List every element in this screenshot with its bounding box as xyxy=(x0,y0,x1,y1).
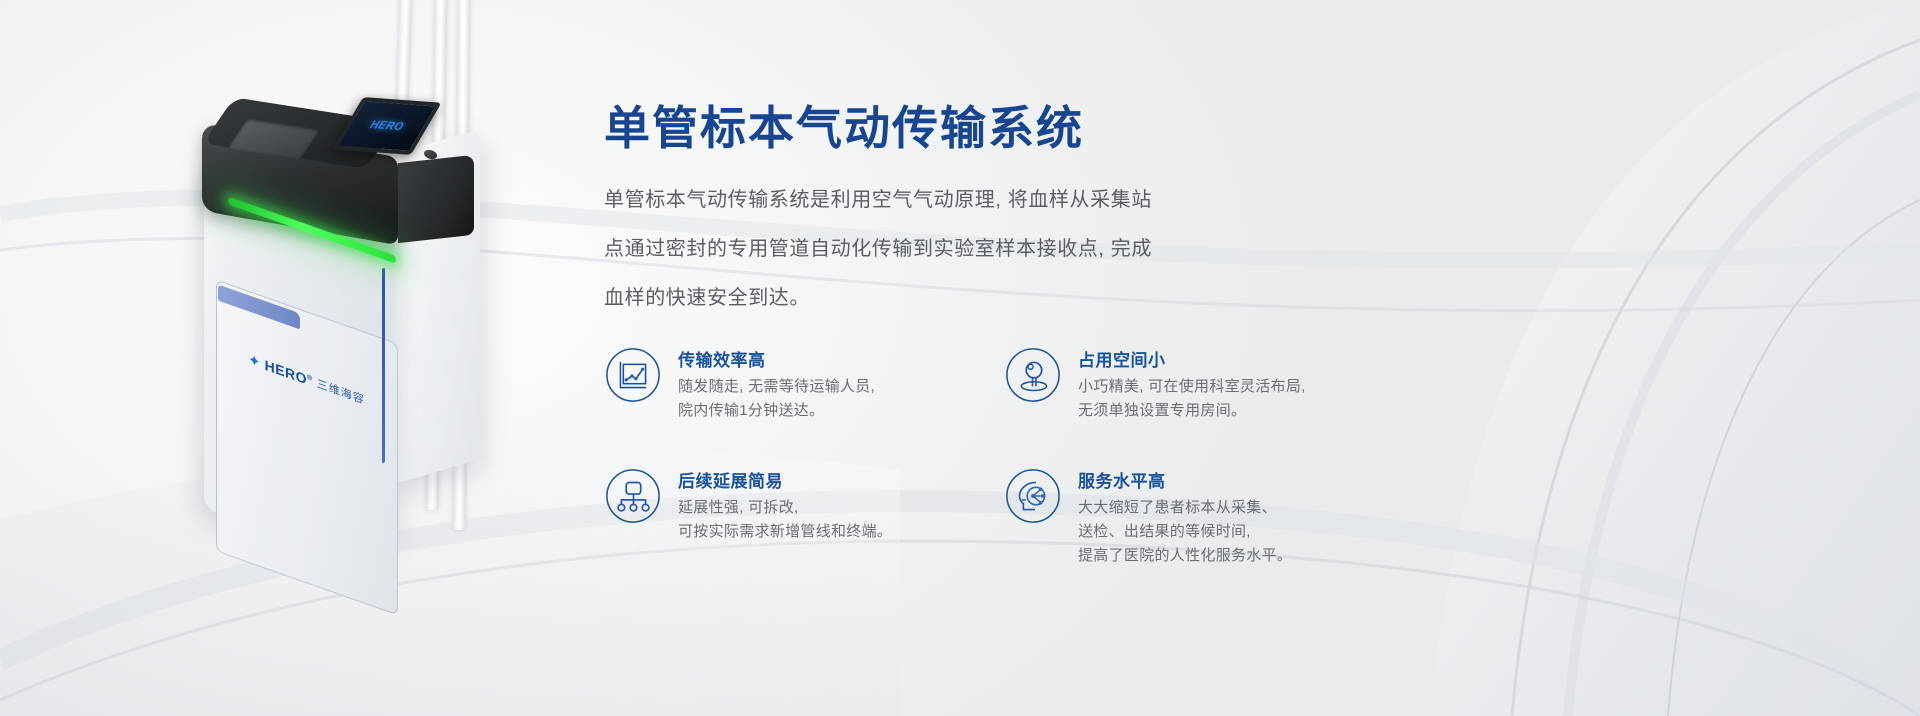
feature-desc-line: 院内传输1分钟送达。 xyxy=(678,399,875,423)
brain-network-icon xyxy=(1004,467,1062,525)
feature-title: 后续延展简易 xyxy=(678,467,892,492)
feature-text: 占用空间小 小巧精美, 可在使用科室灵活布局, 无须单独设置专用房间。 xyxy=(1078,344,1306,423)
space-marker-icon xyxy=(1004,346,1062,404)
feature-desc-line: 大大缩短了患者标本从采集、 xyxy=(1078,496,1292,520)
feature-title: 传输效率高 xyxy=(678,346,875,371)
feature-description: 随发随走, 无需等待运输人员, 院内传输1分钟送达。 xyxy=(678,375,875,423)
product-banner: ✦ HERO® 三维海容 HERO 单管标本气动传输系统 单管标本气动传输系统是… xyxy=(0,0,1920,716)
feature-item-transmission-efficiency: 传输效率高 随发随走, 无需等待运输人员, 院内传输1分钟送达。 xyxy=(604,344,1004,423)
feature-desc-line: 可按实际需求新增管线和终端。 xyxy=(678,520,892,544)
feature-list: 传输效率高 随发随走, 无需等待运输人员, 院内传输1分钟送达。 xyxy=(604,344,1284,568)
feature-text: 传输效率高 随发随走, 无需等待运输人员, 院内传输1分钟送达。 xyxy=(678,344,875,423)
feature-desc-line: 无须单独设置专用房间。 xyxy=(1078,399,1306,423)
feature-title: 服务水平高 xyxy=(1078,467,1292,492)
device-unit: ✦ HERO® 三维海容 HERO xyxy=(196,118,496,538)
intro-line: 血样的快速安全到达。 xyxy=(604,274,1264,323)
feature-description: 大大缩短了患者标本从采集、 送检、出结果的等候时间, 提高了医院的人性化服务水平… xyxy=(1078,496,1292,568)
device-top-side xyxy=(398,155,474,243)
feature-item-easy-extension: 后续延展简易 延展性强, 可拆改, 可按实际需求新增管线和终端。 xyxy=(604,465,1004,568)
network-tree-icon xyxy=(604,467,662,525)
feature-desc-line: 延展性强, 可拆改, xyxy=(678,496,892,520)
feature-text: 后续延展简易 延展性强, 可拆改, 可按实际需求新增管线和终端。 xyxy=(678,465,892,544)
feature-description: 延展性强, 可拆改, 可按实际需求新增管线和终端。 xyxy=(678,496,892,544)
feature-desc-line: 随发随走, 无需等待运输人员, xyxy=(678,375,875,399)
chart-trend-icon xyxy=(604,346,662,404)
feature-title: 占用空间小 xyxy=(1078,346,1306,371)
feature-item-small-footprint: 占用空间小 小巧精美, 可在使用科室灵活布局, 无须单独设置专用房间。 xyxy=(1004,344,1404,423)
feature-desc-line: 送检、出结果的等候时间, xyxy=(1078,520,1292,544)
screen-logo: HERO xyxy=(367,119,406,133)
feature-description: 小巧精美, 可在使用科室灵活布局, 无须单独设置专用房间。 xyxy=(1078,375,1306,423)
intro-line: 点通过密封的专用管道自动化传输到实验室样本接收点, 完成 xyxy=(604,225,1264,274)
feature-desc-line: 小巧精美, 可在使用科室灵活布局, xyxy=(1078,375,1306,399)
intro-line: 单管标本气动传输系统是利用空气气动原理, 将血样从采集站 xyxy=(604,176,1264,225)
feature-text: 服务水平高 大大缩短了患者标本从采集、 送检、出结果的等候时间, 提高了医院的人… xyxy=(1078,465,1292,568)
page-title: 单管标本气动传输系统 xyxy=(604,92,1084,158)
hero-logo-mark: ✦ xyxy=(248,351,261,370)
device-edge-trim xyxy=(382,268,385,464)
device-drawer xyxy=(216,279,398,615)
product-image: ✦ HERO® 三维海容 HERO xyxy=(0,0,600,716)
feature-item-service-level: 服务水平高 大大缩短了患者标本从采集、 送检、出结果的等候时间, 提高了医院的人… xyxy=(1004,465,1404,568)
banner-content: 单管标本气动传输系统 单管标本气动传输系统是利用空气气动原理, 将血样从采集站 … xyxy=(604,0,1904,716)
intro-paragraph: 单管标本气动传输系统是利用空气气动原理, 将血样从采集站 点通过密封的专用管道自… xyxy=(604,176,1264,323)
feature-desc-line: 提高了医院的人性化服务水平。 xyxy=(1078,544,1292,568)
